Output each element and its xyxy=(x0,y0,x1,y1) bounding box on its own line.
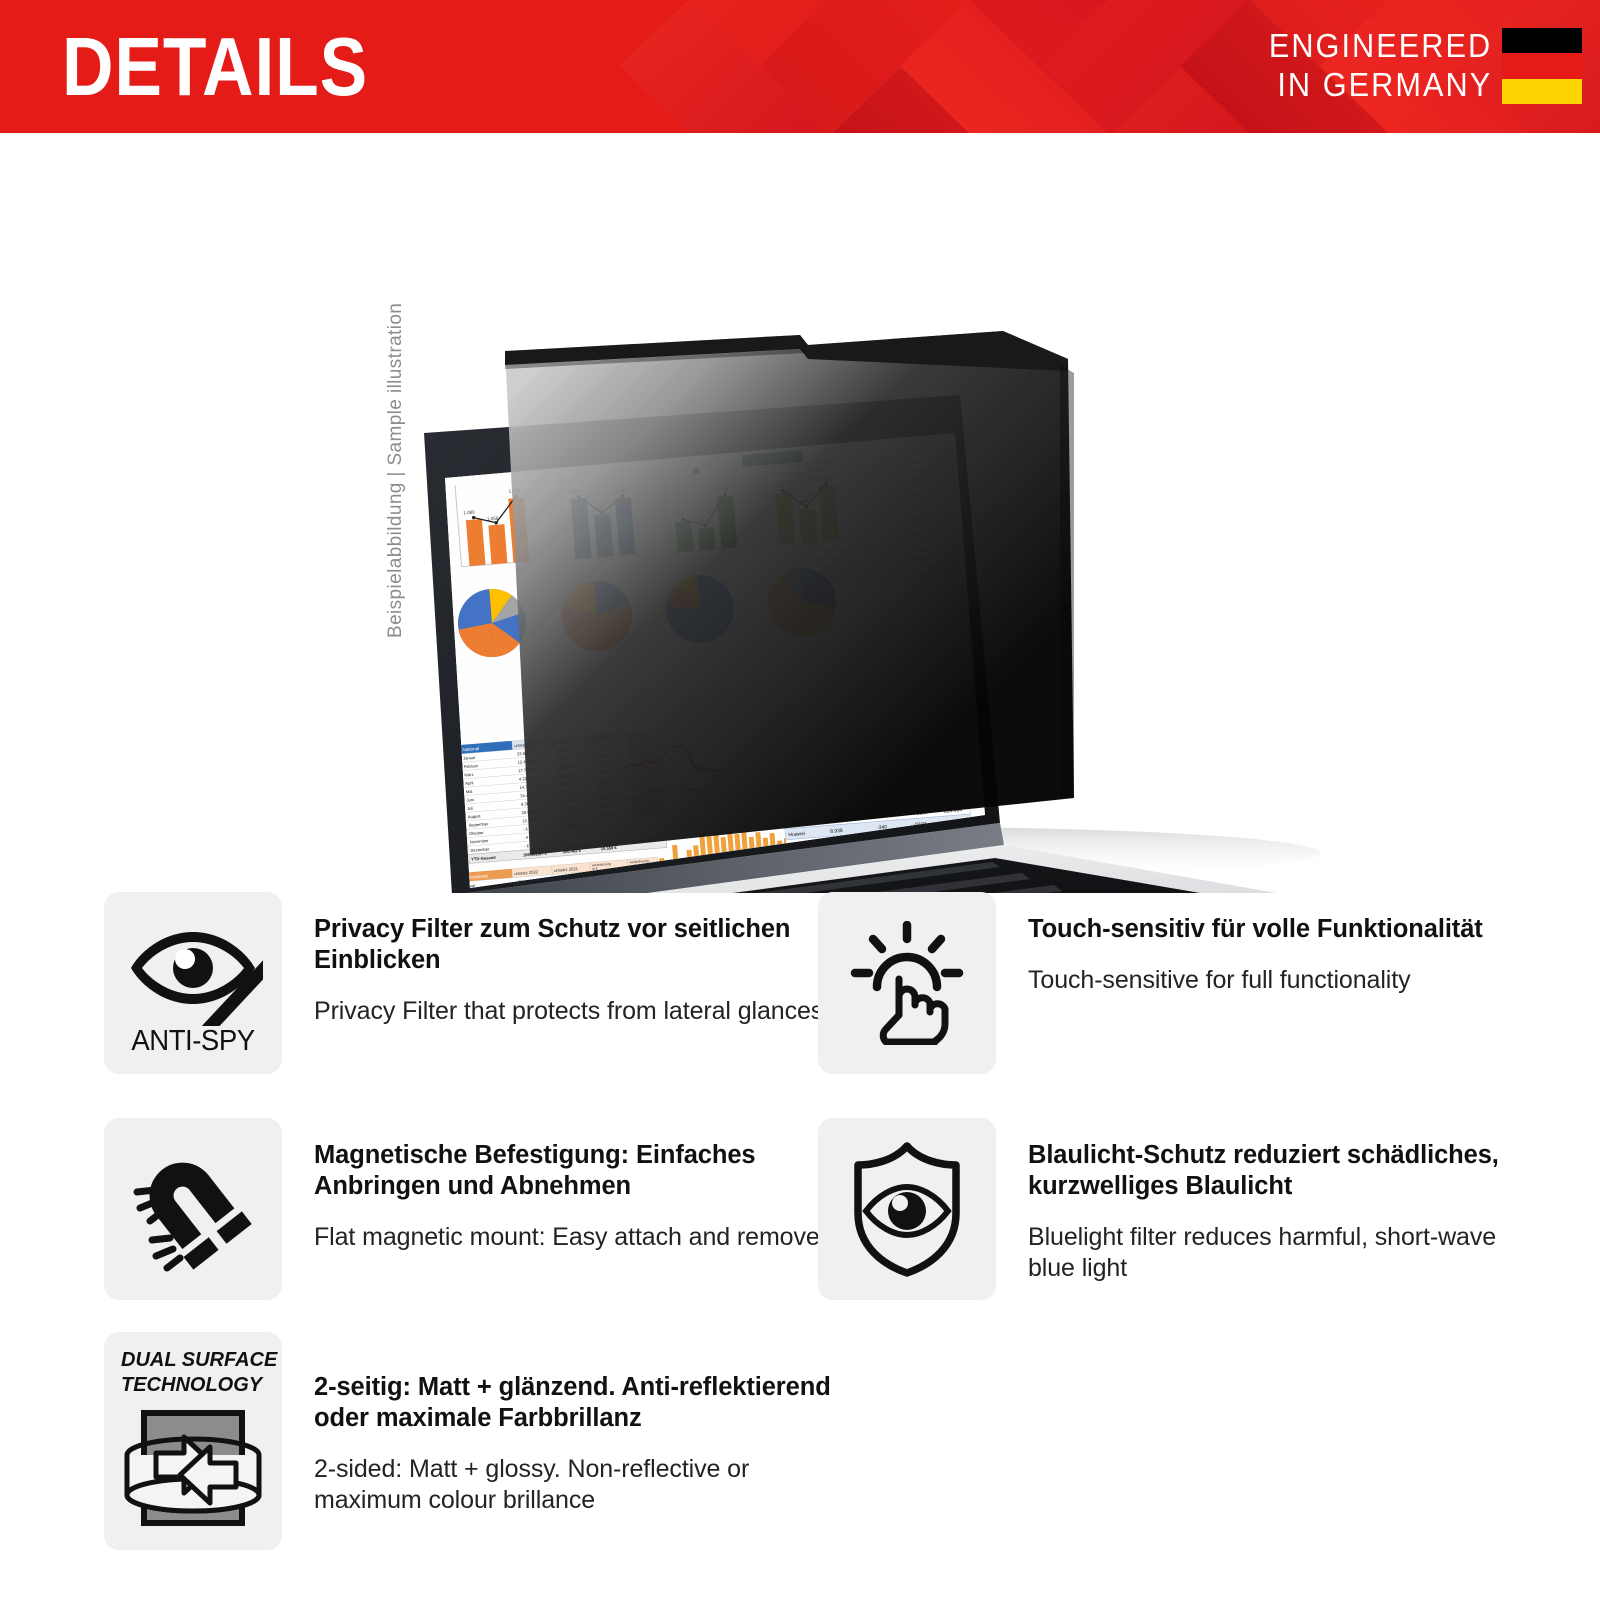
feature-text: Touch-sensitiv für volle Funktionalität … xyxy=(1028,892,1548,1074)
dual-surface-label: Dual Surface Technology xyxy=(104,1348,282,1398)
magnet-icon xyxy=(130,1144,256,1274)
feature-title-en: Bluelight filter reduces harmful, short-… xyxy=(1028,1222,1548,1284)
feature-icon-box: ANTI-SPY xyxy=(104,892,282,1074)
eye-slash-icon xyxy=(123,914,263,1026)
feature-icon-box xyxy=(818,892,996,1074)
feature-title-de: Blaulicht-Schutz reduziert schädliches, … xyxy=(1028,1140,1548,1202)
feature-title-en: 2-sided: Matt + glossy. Non-reflective o… xyxy=(314,1454,854,1516)
product-hero: Beispielabbildung | Sample illustration xyxy=(0,133,1600,893)
anti-spy-label: ANTI-SPY xyxy=(108,1025,277,1058)
feature-title-en: Privacy Filter that protects from latera… xyxy=(314,996,834,1027)
engineered-badge: ENGINEERED IN GERMANY xyxy=(1252,26,1492,104)
feature-title-en: Touch-sensitive for full functionality xyxy=(1028,965,1548,996)
feature-text: Blaulicht-Schutz reduziert schädliches, … xyxy=(1028,1118,1548,1300)
feature-item-dual-surface: Dual Surface Technology 2-seitig: Matt +… xyxy=(104,1332,854,1550)
feature-title-de: Touch-sensitiv für volle Funktionalität xyxy=(1028,914,1548,945)
dual-surface-arrows-icon xyxy=(118,1409,268,1531)
feature-icon-box xyxy=(104,1118,282,1300)
svg-text:1.056: 1.056 xyxy=(487,516,499,522)
feature-item-bluelight: Blaulicht-Schutz reduziert schädliches, … xyxy=(818,1118,1548,1300)
feature-text: Privacy Filter zum Schutz vor seitlichen… xyxy=(314,892,834,1074)
page-title: DETAILS xyxy=(62,23,368,111)
feature-title-de: 2-seitig: Matt + glänzend. Anti-reflekti… xyxy=(314,1372,854,1434)
svg-text:1.080: 1.080 xyxy=(463,509,475,515)
feature-text: 2-seitig: Matt + glänzend. Anti-reflekti… xyxy=(314,1332,854,1550)
feature-text: Magnetische Befestigung: Einfaches Anbri… xyxy=(314,1118,834,1300)
header-banner: DETAILS ENGINEERED IN GERMANY xyxy=(0,0,1600,133)
touch-finger-icon xyxy=(849,921,965,1045)
feature-item-touch: Touch-sensitiv für volle Funktionalität … xyxy=(818,892,1548,1074)
svg-text:Januar: Januar xyxy=(463,755,477,761)
feature-title-de: Privacy Filter zum Schutz vor seitlichen… xyxy=(314,914,834,976)
sample-illustration-caption: Beispielabbildung | Sample illustration xyxy=(385,348,409,638)
feature-item-magnet: Magnetische Befestigung: Einfaches Anbri… xyxy=(104,1118,834,1300)
feature-title-de: Magnetische Befestigung: Einfaches Anbri… xyxy=(314,1140,834,1202)
svg-text:März: März xyxy=(464,772,473,778)
svg-text:Mai: Mai xyxy=(466,789,473,795)
shield-eye-icon xyxy=(850,1141,964,1277)
badge-line-1: ENGINEERED xyxy=(1269,26,1492,65)
svg-text:April: April xyxy=(465,780,474,786)
laptop-illustration: 1.080 1.056 1.143 1.161 1.118 1.149 xyxy=(0,133,1600,893)
privacy-filter-panel xyxy=(505,331,1074,863)
feature-item-anti-spy: ANTI-SPY Privacy Filter zum Schutz vor s… xyxy=(104,892,834,1074)
badge-line-2: IN GERMANY xyxy=(1269,65,1492,104)
svg-text:Juni: Juni xyxy=(466,797,474,803)
german-flag-icon xyxy=(1502,28,1582,104)
feature-icon-box: Dual Surface Technology xyxy=(104,1332,282,1550)
feature-title-en: Flat magnetic mount: Easy attach and rem… xyxy=(314,1222,834,1253)
feature-icon-box xyxy=(818,1118,996,1300)
svg-text:Juli: Juli xyxy=(467,806,474,811)
dst-line2: Technology xyxy=(121,1374,262,1396)
dst-line1: Dual Surface xyxy=(121,1349,277,1371)
